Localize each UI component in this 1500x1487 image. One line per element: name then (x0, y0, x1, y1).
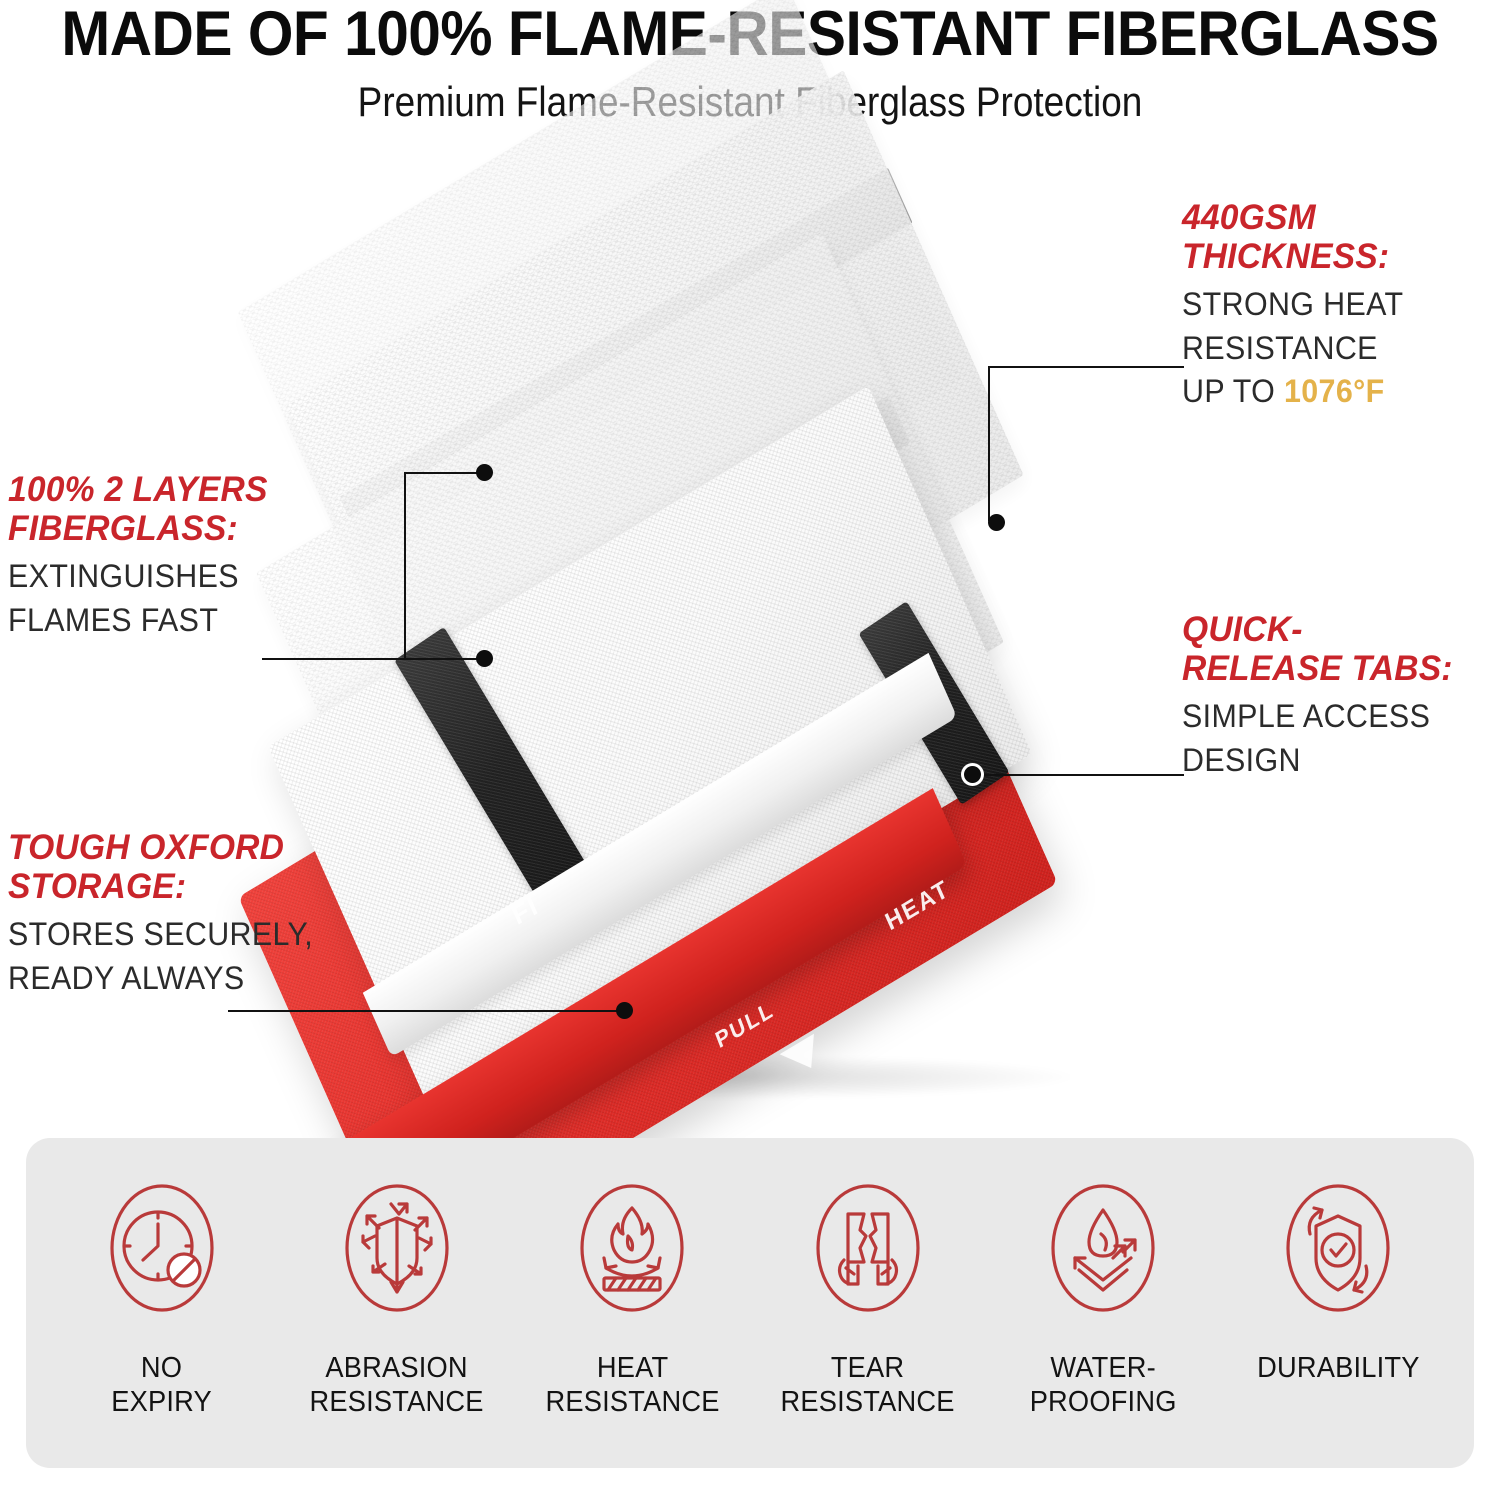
callout-layers: 100% 2 LAYERS FIBERGLASS: EXTINGUISHES F… (8, 470, 338, 642)
leader-line-storage (228, 1010, 628, 1012)
feature-abrasion-resistance: ABRASION RESISTANCE (286, 1174, 508, 1419)
leader-dot-layer-bottom (476, 650, 493, 667)
callout-storage: TOUGH OXFORD STORAGE: STORES SECURELY, R… (8, 828, 358, 1000)
feature-no-expiry: NO EXPIRY (51, 1174, 273, 1419)
feature-label-tear-resistance: TEAR RESISTANCE (781, 1352, 955, 1419)
callout-quick-release-body: SIMPLE ACCESS DESIGN (1182, 695, 1486, 782)
feature-label-durability: DURABILITY (1257, 1352, 1419, 1386)
no-expiry-clock-icon (98, 1174, 226, 1334)
heat-resistance-flame-icon (568, 1174, 696, 1334)
callout-thickness-body: STRONG HEAT RESISTANCE UP TO 1076°F (1182, 283, 1486, 414)
leader-dot-storage (616, 1002, 633, 1019)
leader-dot-quick-release (964, 766, 981, 783)
callout-layers-title: 100% 2 LAYERS FIBERGLASS: (8, 470, 325, 548)
leader-dot-thickness (988, 514, 1005, 531)
callout-thickness: 440GSM THICKNESS: STRONG HEAT RESISTANCE… (1182, 198, 1500, 414)
leader-line-layers-vertical (404, 472, 406, 660)
feature-heat-resistance: HEAT RESISTANCE (521, 1174, 743, 1419)
feature-durability: DURABILITY (1227, 1174, 1449, 1386)
callout-storage-body: STORES SECURELY, READY ALWAYS (8, 913, 341, 1000)
durability-shield-check-icon (1274, 1174, 1402, 1334)
callout-layers-body: EXTINGUISHES FLAMES FAST (8, 555, 322, 642)
feature-tear-resistance: TEAR RESISTANCE (757, 1174, 979, 1419)
feature-waterproofing: WATER- PROOFING (992, 1174, 1214, 1419)
feature-badge-panel: NO EXPIRY ABRASION RESISTANCE (26, 1138, 1474, 1468)
callout-quick-release-title: QUICK- RELEASE TABS: (1182, 610, 1489, 688)
feature-label-waterproofing: WATER- PROOFING (1030, 1352, 1177, 1419)
callout-thickness-title: 440GSM THICKNESS: (1182, 198, 1489, 276)
leader-line-thickness-horizontal (988, 366, 1184, 368)
leader-line-layers-branch (404, 472, 484, 474)
leader-line-quick-release (972, 774, 1184, 776)
leader-line-thickness-vertical (988, 366, 990, 521)
abrasion-resistance-shield-icon (333, 1174, 461, 1334)
leader-dot-layer-top (476, 464, 493, 481)
feature-label-heat-resistance: HEAT RESISTANCE (545, 1352, 719, 1419)
feature-label-no-expiry: NO EXPIRY (111, 1352, 212, 1419)
waterproofing-droplet-icon (1039, 1174, 1167, 1334)
leader-line-layers-horizontal (262, 658, 484, 660)
tear-resistance-hands-icon (804, 1174, 932, 1334)
feature-label-abrasion-resistance: ABRASION RESISTANCE (310, 1352, 484, 1419)
callout-storage-title: TOUGH OXFORD STORAGE: (8, 828, 344, 906)
callout-quick-release: QUICK- RELEASE TABS: SIMPLE ACCESS DESIG… (1182, 610, 1500, 782)
callout-thickness-temperature: 1076°F (1284, 373, 1385, 409)
